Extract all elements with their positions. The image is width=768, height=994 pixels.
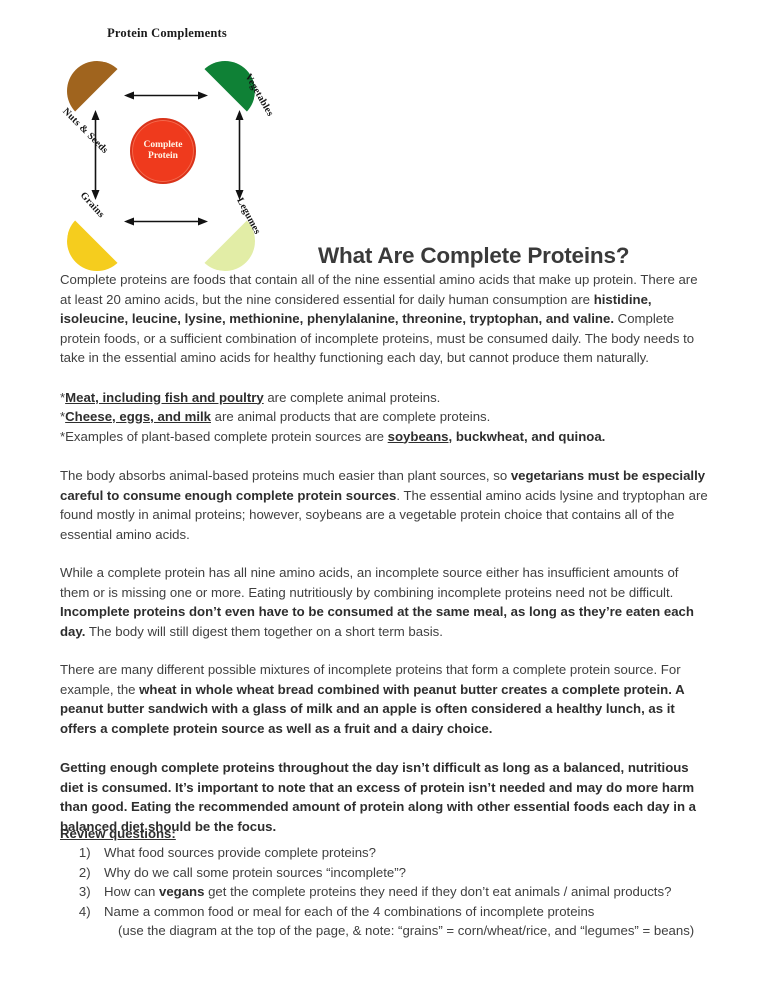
review-question-1: What food sources provide complete prote…: [98, 843, 720, 863]
document-page: Protein Complements Nuts & Seeds Vegetab…: [0, 0, 768, 994]
paragraph-5: Getting enough complete proteins through…: [60, 758, 710, 836]
spacer: [60, 738, 710, 758]
diagram-stage: Nuts & Seeds Vegetables Grains Legumes: [62, 48, 272, 263]
paragraph-2: The body absorbs animal-based proteins m…: [60, 466, 710, 544]
page-title: What Are Complete Proteins?: [318, 243, 629, 269]
review-question-1-text: What food sources provide complete prote…: [104, 845, 376, 860]
star-line-3: *Examples of plant-based complete protei…: [60, 427, 710, 447]
arrow-bottom-icon: [124, 216, 208, 227]
review-question-3-pre: How can: [104, 884, 159, 899]
center-label-line1: Complete: [143, 140, 182, 151]
review-question-4: Name a common food or meal for each of t…: [98, 902, 720, 941]
review-question-3: How can vegans get the complete proteins…: [98, 882, 720, 902]
arrow-top-icon: [124, 90, 208, 101]
review-question-4-note: (use the diagram at the top of the page,…: [104, 921, 720, 941]
star-line-3-rest: , buckwheat, and quinoa.: [449, 429, 606, 444]
paragraph-4: There are many different possible mixtur…: [60, 660, 710, 738]
arrow-left-icon: [90, 110, 101, 200]
spacer: [60, 368, 710, 388]
review-question-3-post: get the complete proteins they need if t…: [204, 884, 671, 899]
review-questions-section: Review questions: What food sources prov…: [60, 826, 720, 941]
protein-complements-diagram: Protein Complements Nuts & Seeds Vegetab…: [62, 26, 272, 266]
star-line-2-emphasis: Cheese, eggs, and milk: [65, 409, 211, 424]
arrow-right-icon: [234, 110, 245, 200]
review-question-4-text: Name a common food or meal for each of t…: [104, 904, 594, 919]
document-body: Complete proteins are foods that contain…: [60, 270, 710, 836]
diagram-center-complete-protein: Complete Protein: [130, 118, 196, 184]
star-line-3-lead: *Examples of plant-based complete protei…: [60, 429, 388, 444]
star-line-1: *Meat, including fish and poultry are co…: [60, 388, 710, 408]
spacer: [60, 544, 710, 563]
paragraph-1: Complete proteins are foods that contain…: [60, 270, 710, 368]
paragraph-4-emphasis: wheat in whole wheat bread combined with…: [60, 682, 684, 736]
star-line-2: *Cheese, eggs, and milk are animal produ…: [60, 407, 710, 427]
review-question-3-emphasis: vegans: [159, 884, 204, 899]
star-line-1-rest: are complete animal proteins.: [264, 390, 441, 405]
review-questions-heading: Review questions:: [60, 826, 720, 841]
complete-protein-source-list: *Meat, including fish and poultry are co…: [60, 388, 710, 447]
paragraph-5-wrapper: Getting enough complete proteins through…: [60, 758, 710, 836]
star-line-3-emphasis: soybeans: [388, 429, 449, 444]
paragraph-3-part-1: While a complete protein has all nine am…: [60, 565, 678, 600]
nuts-and-seeds-wedge-shape: [53, 47, 119, 113]
diagram-title: Protein Complements: [62, 26, 272, 41]
review-questions-list: What food sources provide complete prote…: [60, 843, 720, 941]
paragraph-3: While a complete protein has all nine am…: [60, 563, 710, 641]
paragraph-2-part-1: The body absorbs animal-based proteins m…: [60, 468, 511, 483]
star-line-1-emphasis: Meat, including fish and poultry: [65, 390, 264, 405]
spacer: [60, 446, 710, 466]
spacer: [60, 641, 710, 660]
review-question-2: Why do we call some protein sources “inc…: [98, 863, 720, 883]
paragraph-3-part-2: The body will still digest them together…: [85, 624, 442, 639]
center-label-line2: Protein: [148, 151, 178, 162]
review-question-2-text: Why do we call some protein sources “inc…: [104, 865, 406, 880]
star-line-2-rest: are animal products that are complete pr…: [211, 409, 490, 424]
